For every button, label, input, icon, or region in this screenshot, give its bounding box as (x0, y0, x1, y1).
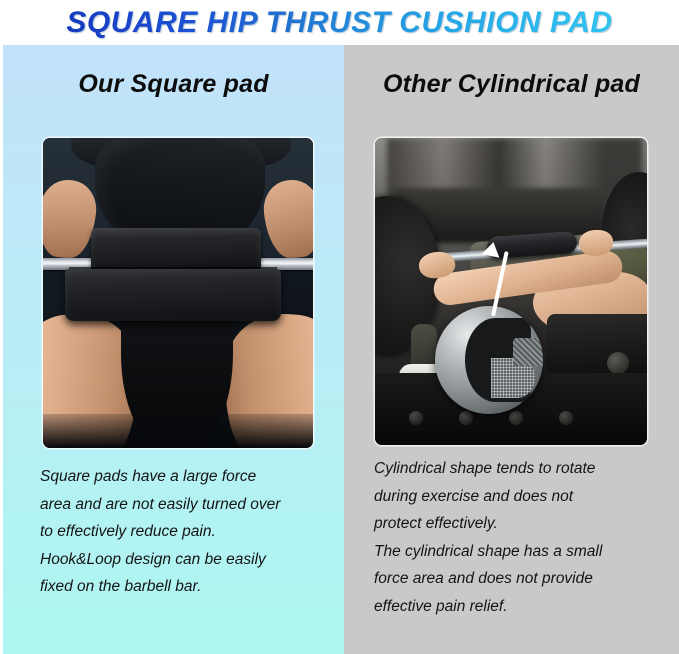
base-wheel (409, 411, 423, 425)
right-caption-line: effective pain relief. (374, 593, 664, 621)
cylinder-opening-edge (513, 338, 543, 366)
right-caption: Cylindrical shape tends to rotate during… (374, 455, 664, 620)
right-product-photo (375, 138, 647, 445)
right-panel-heading: Other Cylindrical pad (344, 45, 679, 99)
base-wheel (459, 411, 473, 425)
panel-our-square-pad: Our Square pad (0, 45, 344, 654)
right-caption-line: during exercise and does not (374, 483, 664, 511)
base-wheel (509, 411, 523, 425)
right-caption-line: The cylindrical shape has a small (374, 538, 664, 566)
left-product-photo (43, 138, 313, 448)
base-wheel (559, 411, 573, 425)
title-banner: SQUARE HIP THRUST CUSHION PAD (0, 0, 679, 45)
right-caption-line: force area and does not provide (374, 565, 664, 593)
square-pad-lower-layer (65, 269, 281, 321)
left-caption-line: to effectively reduce pain. (40, 518, 336, 546)
left-caption-line: fixed on the barbell bar. (40, 573, 336, 601)
floor-shadow (43, 414, 313, 448)
left-caption-line: Hook&Loop design can be easily (40, 546, 336, 574)
product-comparison-page: SQUARE HIP THRUST CUSHION PAD Our Square… (0, 0, 679, 654)
comparison-panels: Our Square pad (0, 45, 679, 654)
square-pad-upper-layer (91, 228, 261, 270)
right-caption-line: Cylindrical shape tends to rotate (374, 455, 664, 483)
left-photo-scene (43, 138, 313, 448)
panel-other-cylindrical-pad: Other Cylindrical pad (344, 45, 679, 654)
right-photo-scene (375, 138, 647, 445)
left-caption: Square pads have a large force area and … (40, 463, 336, 601)
adjustment-knob (607, 352, 629, 374)
page-title: SQUARE HIP THRUST CUSHION PAD (66, 6, 612, 40)
left-caption-line: Square pads have a large force (40, 463, 336, 491)
hand-right (579, 230, 613, 256)
left-panel-heading: Our Square pad (3, 45, 344, 99)
left-caption-line: area and are not easily turned over (40, 491, 336, 519)
machine-back-pad (547, 314, 647, 380)
right-caption-line: protect effectively. (374, 510, 664, 538)
cylindrical-pad-cross-section (435, 306, 543, 414)
